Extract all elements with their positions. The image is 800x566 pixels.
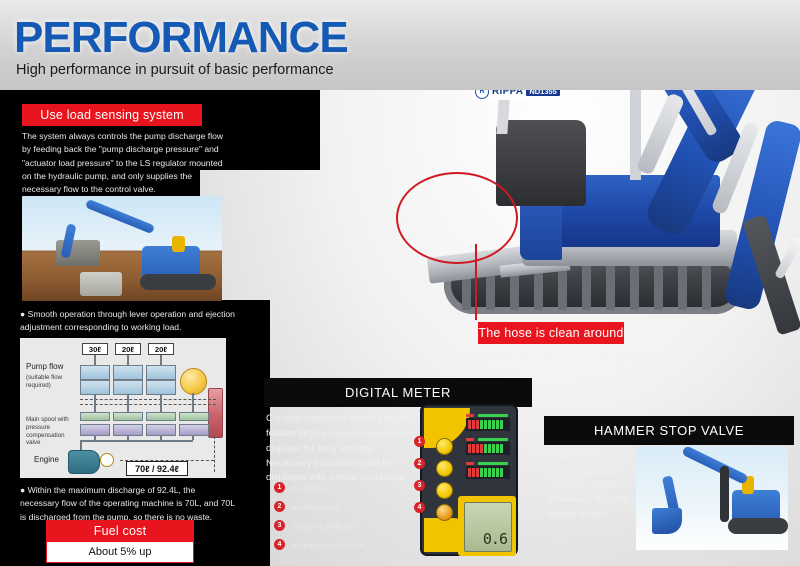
legend-number-icon: 1 — [274, 482, 285, 493]
page-title: PERFORMANCE — [14, 16, 348, 60]
actuator-3a — [146, 365, 176, 380]
legend-number-icon: 2 — [274, 501, 285, 512]
diagram-regulator — [180, 368, 207, 395]
bullet-2-text: Within the maximum discharge of 92.4L, t… — [20, 485, 235, 522]
comp-valve-1 — [80, 424, 110, 436]
diagram-pressure-tank — [208, 388, 223, 438]
diagram-engine-label: Engine — [34, 455, 59, 465]
fuel-cost-value: About 5% up — [46, 542, 194, 563]
photo-concrete-pipe — [80, 272, 122, 296]
digital-meter-legend: 1 headlight 2 working lamp 3 charging in… — [274, 482, 424, 558]
legend-item: 3 charging indicator — [274, 520, 424, 531]
digital-meter-title: DIGITAL METER — [264, 378, 532, 407]
actuator-1b — [80, 380, 110, 395]
diagram-spool-label: Main spool with pressure compensation va… — [26, 416, 76, 447]
fuel-cost-label: Fuel cost — [46, 520, 194, 542]
photo-breaker-attachment — [652, 508, 682, 534]
legend-label: hydraulics pressure — [292, 540, 365, 550]
panel-button-charging-indicator[interactable] — [436, 482, 453, 499]
load-sensing-bullet-2: ● Within the maximum discharge of 92.4L,… — [20, 484, 236, 524]
panel-button-hydraulics-pressure[interactable] — [436, 504, 453, 521]
load-sensing-photo — [22, 196, 222, 301]
spool-4 — [179, 412, 209, 421]
load-sensing-bullet-1: ● Smooth operation through lever operati… — [20, 308, 236, 335]
operator-seat — [496, 120, 586, 206]
legend-label: working lamp — [292, 502, 341, 512]
diagram-chip-1: 30ℓ — [82, 343, 108, 355]
legend-number-icon: 3 — [274, 520, 285, 531]
diagram-pump-flow-label: Pump flow — [26, 362, 63, 372]
hose-callout-band: The hose is clean around — [478, 322, 624, 344]
digital-meter-section: DIGITAL METER Console-integrated digital… — [264, 378, 532, 558]
diagram-engine-icon — [68, 450, 100, 474]
legend-number-icon: 4 — [274, 539, 285, 550]
comp-valve-4 — [179, 424, 209, 436]
panel-button-working-lamp[interactable] — [436, 460, 453, 477]
load-sensing-section: Use load sensing system The system alway… — [0, 90, 246, 566]
spool-3 — [146, 412, 176, 421]
panel-callout-3: 3 — [414, 480, 425, 491]
photo-canopy-post — [720, 466, 729, 522]
hose-callout-body: Restrain the looseness of boom cylinder … — [478, 350, 728, 378]
spool-1 — [80, 412, 110, 421]
load-sensing-body: The system always controls the pump disc… — [22, 130, 230, 197]
actuator-3b — [146, 380, 176, 395]
panel-callout-2: 2 — [414, 458, 425, 469]
performance-brochure-page: R RIPPA ND1355 PERFORMANCE High performa… — [0, 0, 800, 566]
legend-item: 4 hydraulics pressure — [274, 539, 424, 550]
legend-item: 2 working lamp — [274, 501, 424, 512]
hammer-stop-valve-body: When the breaker is installed, it can ef… — [548, 450, 630, 521]
bullet-1-text: Smooth operation through lever operation… — [20, 309, 235, 332]
hammer-stop-valve-title: HAMMER STOP VALVE — [544, 416, 794, 445]
fuel-cost-box: Fuel cost About 5% up — [46, 520, 194, 563]
photo-boom — [681, 446, 748, 485]
diagram-pump-icon — [100, 453, 114, 467]
panel-callout-1: 1 — [414, 436, 425, 447]
hammer-stop-valve-photo — [636, 446, 788, 550]
diagram-chip-3: 20ℓ — [148, 343, 174, 355]
hammer-stop-valve-section: HAMMER STOP VALVE When the breaker is in… — [544, 416, 794, 556]
panel-callout-4: 4 — [414, 502, 425, 513]
photo-mini-excavator-track — [140, 274, 216, 290]
comp-valve-3 — [146, 424, 176, 436]
gauge-temperature — [466, 442, 510, 455]
gauge-fuel — [466, 418, 510, 431]
photo-mini-boom — [85, 199, 155, 234]
hose-callout-leader-line — [475, 244, 477, 320]
photo-operator — [172, 236, 185, 252]
diagram-chip-2: 20ℓ — [115, 343, 141, 355]
diagram-result-value: 70ℓ / 92.4ℓ — [126, 461, 188, 476]
legend-item: 1 headlight — [274, 482, 424, 493]
page-header: PERFORMANCE High performance in pursuit … — [0, 0, 800, 90]
actuator-1a — [80, 365, 110, 380]
hose-callout-section: The hose is clean around Restrain the lo… — [478, 322, 728, 378]
legend-label: charging indicator — [292, 521, 358, 531]
photo-excavator-track — [728, 518, 788, 534]
page-subtitle: High performance in pursuit of basic per… — [16, 62, 334, 78]
digital-meter-body: Console-integrated digital gauges featur… — [266, 412, 418, 486]
actuator-2a — [113, 365, 143, 380]
load-sensing-band: Use load sensing system — [22, 104, 202, 126]
lcd-value: 0.6 — [483, 530, 507, 548]
hydraulic-circuit-diagram: Pump flow (suitable flow required) Main … — [20, 338, 226, 478]
panel-button-headlight[interactable] — [436, 438, 453, 455]
digital-meter-panel[interactable]: 0.6 — [420, 404, 518, 556]
hose-highlight-circle — [396, 172, 518, 264]
diagram-pump-flow-note: (suitable flow required) — [26, 374, 82, 390]
legend-label: headlight — [292, 483, 326, 493]
comp-valve-2 — [113, 424, 143, 436]
actuator-2b — [113, 380, 143, 395]
lcd-display: 0.6 — [464, 502, 512, 552]
spool-2 — [113, 412, 143, 421]
gauge-hydraulic — [466, 466, 510, 479]
